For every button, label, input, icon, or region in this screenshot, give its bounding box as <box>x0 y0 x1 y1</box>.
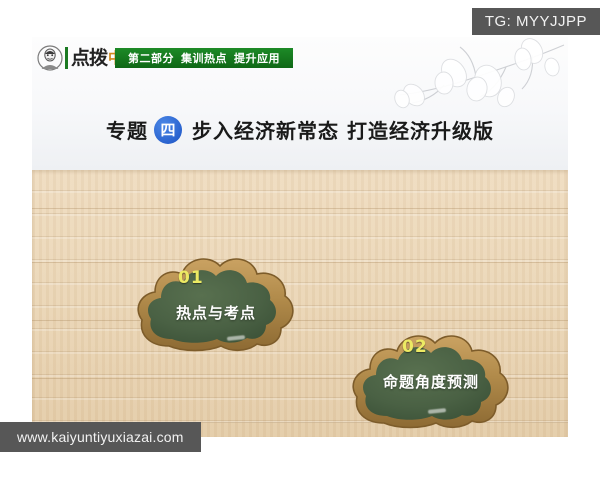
logo-divider <box>65 47 68 69</box>
card-label: 命题角度预测 <box>350 371 512 392</box>
card-number: 02 <box>402 337 428 357</box>
section-banner: 第二部分 集训热点 提升应用 <box>115 48 293 68</box>
banner-goal-label: 提升应用 <box>234 50 280 66</box>
telegram-watermark: TG: MYYJJPP <box>472 8 600 35</box>
cloud-shape-icon <box>135 242 297 354</box>
banner-topic-label: 集训热点 <box>181 50 227 66</box>
topic-card-01[interactable]: 01 热点与考点 <box>135 242 297 354</box>
card-number: 01 <box>178 268 204 288</box>
topic-card-02[interactable]: 02 命题角度预测 <box>350 319 512 431</box>
title-heading: 步入经济新常态 打造经济升级版 <box>192 115 494 144</box>
presentation-slide: 点拨 中考 第二部分 集训热点 提升应用 专题 四 步入经济新常态 打造经济升级… <box>32 37 568 437</box>
teacher-portrait-icon <box>37 45 63 71</box>
title-number-badge: 四 <box>154 116 182 144</box>
slide-header: 点拨 中考 第二部分 集训热点 提升应用 专题 四 步入经济新常态 打造经济升级… <box>32 37 568 170</box>
title-prefix: 专题 <box>106 115 148 144</box>
slide-title: 专题 四 步入经济新常态 打造经济升级版 <box>32 115 568 144</box>
wood-plank-seam <box>32 262 568 263</box>
card-label: 热点与考点 <box>135 302 297 323</box>
slide-viewer: 点拨 中考 第二部分 集训热点 提升应用 专题 四 步入经济新常态 打造经济升级… <box>0 0 600 480</box>
wood-plank-seam <box>32 208 568 209</box>
banner-part-label: 第二部分 <box>128 50 174 66</box>
logo-brand-text: 点拨 <box>71 49 107 68</box>
site-watermark: www.kaiyuntiyuxiazai.com <box>0 422 201 452</box>
